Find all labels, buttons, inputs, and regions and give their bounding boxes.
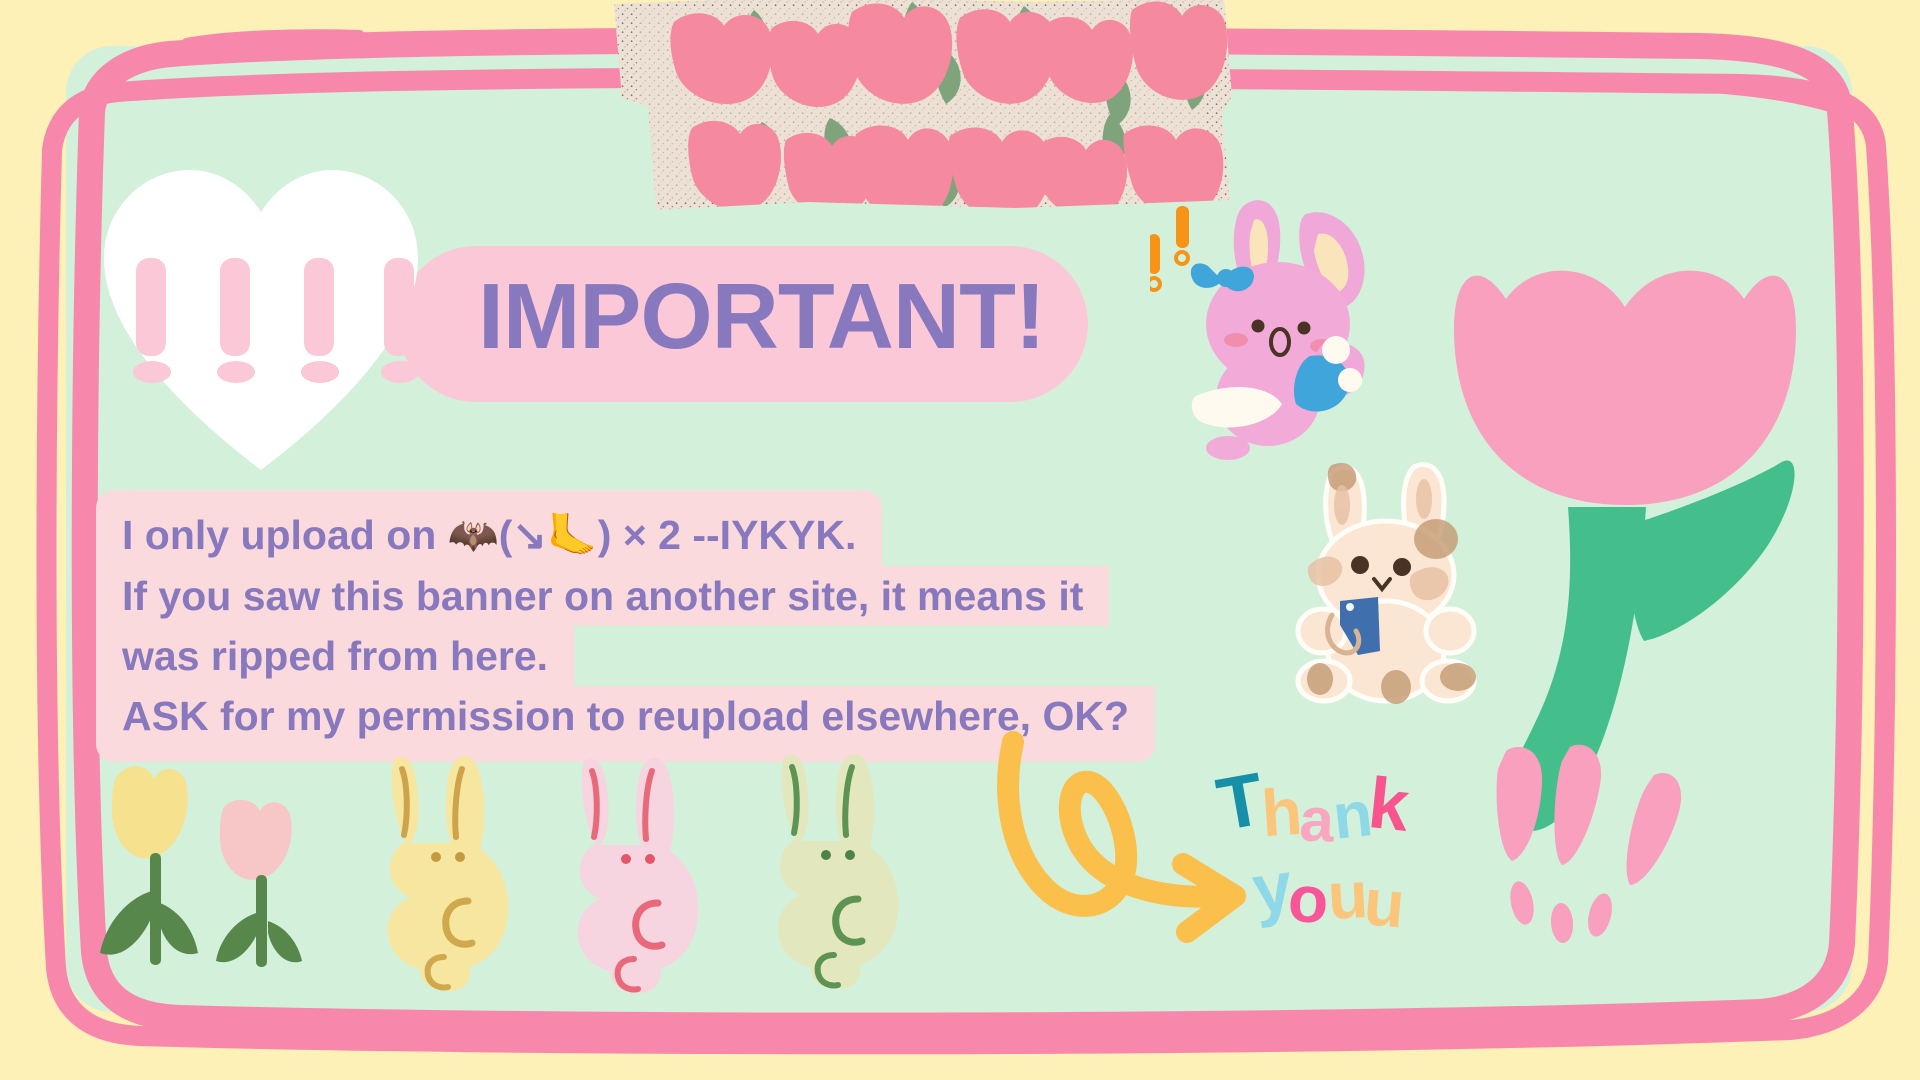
- gummy-bunnies-and-tulips-icon: [96, 745, 986, 995]
- gummy-bunny-yellow: [388, 756, 509, 991]
- thank-you-letter: a: [1298, 789, 1335, 852]
- small-tulip-yellow: [100, 766, 198, 965]
- body-line: was ripped from here.: [96, 626, 574, 686]
- body-line: If you saw this banner on another site, …: [96, 566, 1109, 626]
- banner-stage: !!!! IMPORTANT! I only upload on 🦇(↘🦶) ×…: [0, 0, 1920, 1080]
- body-line: I only upload on 🦇(↘🦶) × 2 --IYKYK.: [96, 490, 882, 566]
- thank-you-letter: u: [1361, 868, 1407, 937]
- gummy-bunny-green: [778, 754, 899, 989]
- small-tulip-pink: [216, 800, 302, 967]
- thank-you-letter: k: [1365, 767, 1412, 843]
- washi-tape-icon: [612, 0, 1252, 216]
- flying-bunny-icon: [1150, 190, 1410, 460]
- page-title: IMPORTANT!: [478, 265, 1045, 367]
- thank-you-letter: h: [1260, 778, 1305, 847]
- thank-you-letter: o: [1286, 865, 1330, 933]
- thank-you-word-one: Thank: [1218, 765, 1407, 839]
- gummy-bunny-pink: [578, 758, 699, 993]
- orange-exclamation-marks: [1150, 206, 1189, 290]
- thank-you-word-two: youu: [1252, 847, 1404, 917]
- heart-exclaim-text: !!!!: [0, 0, 1, 1]
- heart-icon: [96, 150, 426, 480]
- thank-you-lettering: Thank youu: [1218, 765, 1518, 955]
